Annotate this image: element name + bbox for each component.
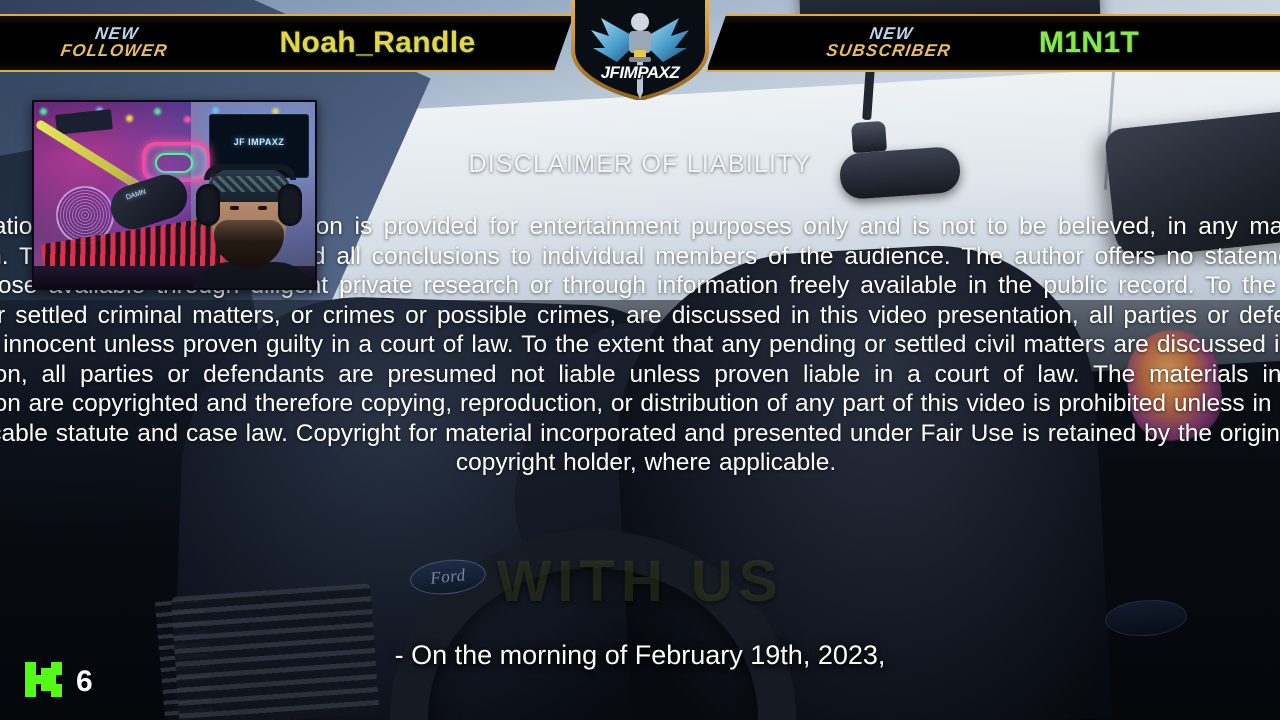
headphone-headband-icon bbox=[204, 164, 296, 180]
new-follower-alert: NEW FOLLOWER Noah_Randle bbox=[0, 14, 574, 72]
new-subscriber-alert: NEW SUBSCRIBER M1N1T bbox=[706, 14, 1280, 72]
subscriber-label-line2: SUBSCRIBER bbox=[767, 43, 1010, 60]
webcam-streamer bbox=[184, 158, 316, 288]
streamer-eye-left bbox=[230, 206, 239, 210]
headphone-cup-left-icon bbox=[196, 184, 220, 226]
channel-shield-logo: JFIMPAXZ bbox=[565, 0, 715, 100]
subscriber-username: M1N1T bbox=[1010, 26, 1280, 60]
streamer-eye-right bbox=[258, 206, 267, 210]
caption-subtitle: - On the morning of February 19th, 2023, bbox=[0, 640, 1280, 671]
webcam-logo-sign-text: JF IMPAXZ bbox=[210, 137, 308, 147]
platform-status-bar: 6 bbox=[22, 660, 93, 704]
kick-logo-icon bbox=[22, 660, 64, 704]
scene-right-equipment bbox=[1104, 106, 1280, 259]
new-subscriber-label: NEW SUBSCRIBER bbox=[767, 26, 1012, 59]
new-follower-label: NEW FOLLOWER bbox=[5, 26, 225, 59]
scene-dashcam-device bbox=[839, 146, 962, 200]
viewer-count: 6 bbox=[76, 665, 93, 699]
scene-dashcam-lens bbox=[851, 121, 887, 153]
svg-text:JFIMPAXZ: JFIMPAXZ bbox=[601, 63, 681, 82]
webcam-overlay: JF IMPAXZ DAMN bbox=[32, 100, 317, 290]
follower-label-line2: FOLLOWER bbox=[5, 43, 223, 60]
stream-viewport: Ford WITH US DISCLAIMER OF LIABILITY All… bbox=[0, 0, 1280, 720]
scene-watermark: WITH US bbox=[0, 548, 1280, 615]
follower-username: Noah_Randle bbox=[223, 26, 572, 60]
streamer-beard bbox=[214, 220, 284, 268]
headphone-cup-right-icon bbox=[278, 184, 302, 226]
